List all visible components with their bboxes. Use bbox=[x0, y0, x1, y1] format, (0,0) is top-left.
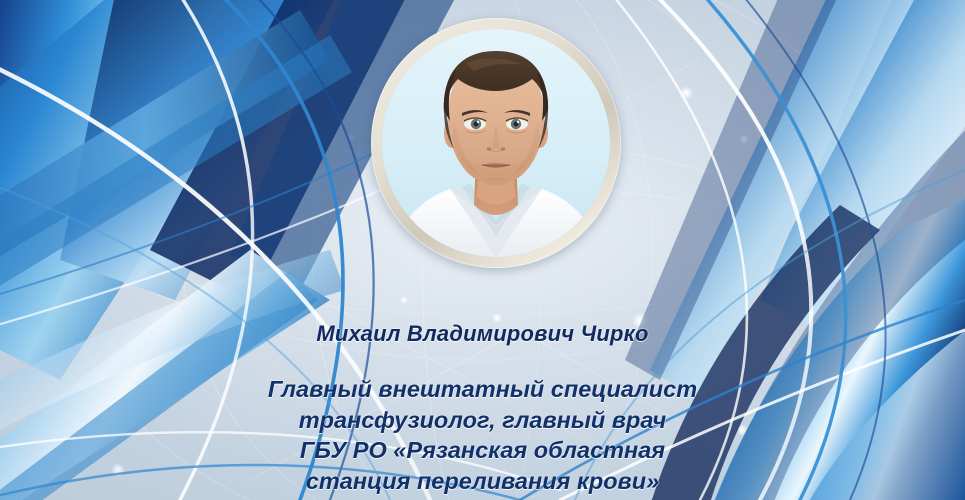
person-name: Михаил Владимирович Чирко bbox=[0, 322, 965, 346]
portrait-photo bbox=[371, 18, 621, 268]
person-title: Главный внештатный специалист трансфузио… bbox=[0, 374, 965, 496]
portrait-image-clip bbox=[382, 29, 610, 257]
person-title-line-1: Главный внештатный специалист bbox=[0, 374, 965, 405]
slide-canvas: Михаил Владимирович Чирко Главный внешта… bbox=[0, 0, 965, 500]
person-title-line-2: трансфузиолог, главный врач bbox=[0, 405, 965, 436]
portrait-illustration bbox=[382, 29, 610, 257]
person-text-block: Михаил Владимирович Чирко Главный внешта… bbox=[0, 322, 965, 496]
person-title-line-3: ГБУ РО «Рязанская областная bbox=[0, 435, 965, 466]
person-title-line-4: станция переливания крови» bbox=[0, 466, 965, 497]
